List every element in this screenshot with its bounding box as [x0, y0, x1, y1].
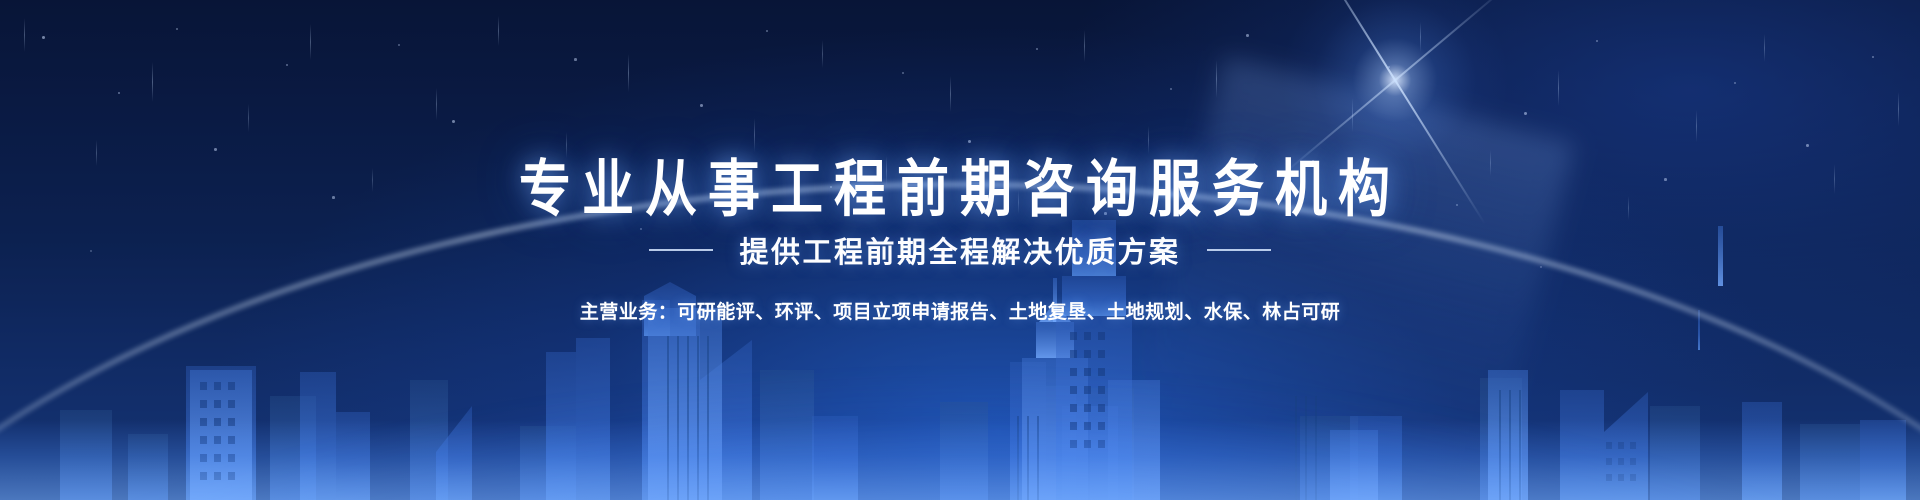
star-dot	[286, 64, 288, 66]
light-streak	[1284, 182, 1285, 204]
rule-left-icon	[649, 249, 713, 251]
star-dot	[574, 58, 577, 61]
hero-banner: 专业从事工程前期咨询服务机构 提供工程前期全程解决优质方案 主营业务：可研能评、…	[0, 0, 1920, 500]
light-streak	[248, 104, 249, 132]
star-dot	[90, 250, 92, 252]
city-skyline-icon	[0, 220, 1920, 500]
star-dot	[1104, 212, 1107, 215]
light-streak	[886, 156, 887, 186]
light-streak	[754, 118, 755, 152]
star-field	[0, 0, 1920, 500]
horizon-glow-arc	[0, 160, 1920, 500]
light-streak	[690, 200, 691, 222]
light-streak	[1558, 70, 1559, 106]
light-streak	[1216, 60, 1217, 98]
star-dot	[766, 30, 768, 32]
star-dot	[640, 228, 642, 230]
light-streak	[498, 16, 499, 46]
light-streak	[566, 132, 567, 158]
banner-subheadline-row: 提供工程前期全程解决优质方案	[0, 229, 1920, 271]
star-dot	[118, 92, 120, 94]
light-streak	[950, 76, 951, 112]
star-dot	[968, 140, 971, 143]
star-dot	[1664, 178, 1667, 181]
light-streak	[310, 24, 311, 60]
light-streak	[1018, 190, 1019, 214]
star-dot	[1388, 66, 1390, 68]
light-streak	[1420, 22, 1421, 52]
star-dot	[1246, 34, 1249, 37]
star-dot	[1036, 48, 1038, 50]
star-dot	[1170, 88, 1172, 90]
horizon-glow-edge	[0, 183, 1920, 500]
banner-content: 专业从事工程前期咨询服务机构 提供工程前期全程解决优质方案 主营业务：可研能评、…	[0, 0, 1920, 324]
star-dot	[1872, 56, 1874, 58]
light-streak	[372, 168, 373, 192]
banner-services-line: 主营业务：可研能评、环评、项目立项申请报告、土地复垦、土地规划、水保、林占可研	[0, 297, 1920, 324]
lens-flare-icon	[1280, 0, 1510, 195]
light-streak	[1628, 196, 1629, 220]
star-dot	[1734, 82, 1736, 84]
light-streak	[436, 88, 437, 120]
star-dot	[1540, 266, 1542, 268]
star-dot	[332, 196, 335, 199]
star-dot	[700, 104, 703, 107]
light-streak	[1696, 110, 1697, 142]
star-dot	[176, 28, 178, 30]
banner-headline: 专业从事工程前期咨询服务机构	[0, 0, 1920, 228]
star-dot	[214, 148, 217, 151]
light-streak	[1148, 126, 1149, 154]
light-streak	[1490, 150, 1491, 176]
light-streak	[1352, 98, 1353, 132]
light-streak	[1834, 164, 1835, 194]
light-streak	[822, 40, 823, 68]
star-dot	[1524, 112, 1527, 115]
star-dot	[830, 186, 832, 188]
star-dot	[520, 176, 522, 178]
light-streak	[24, 18, 25, 52]
horizon-bottom-glow	[0, 420, 1920, 500]
star-dot	[1596, 40, 1598, 42]
star-dot	[1806, 144, 1809, 147]
light-ray	[1124, 56, 1575, 500]
star-dot	[1312, 160, 1314, 162]
star-dot	[42, 36, 45, 39]
light-streak	[1898, 92, 1899, 126]
light-streak	[1764, 34, 1765, 62]
light-streak	[1084, 30, 1085, 62]
light-streak-field	[0, 0, 1920, 500]
rule-right-icon	[1207, 249, 1271, 251]
star-dot	[902, 72, 904, 74]
star-dot	[398, 44, 400, 46]
star-dot	[1456, 204, 1458, 206]
light-streak	[152, 62, 153, 102]
light-streak	[96, 140, 97, 166]
banner-subheadline: 提供工程前期全程解决优质方案	[739, 229, 1180, 271]
light-streak	[628, 54, 629, 92]
star-dot	[452, 120, 455, 123]
